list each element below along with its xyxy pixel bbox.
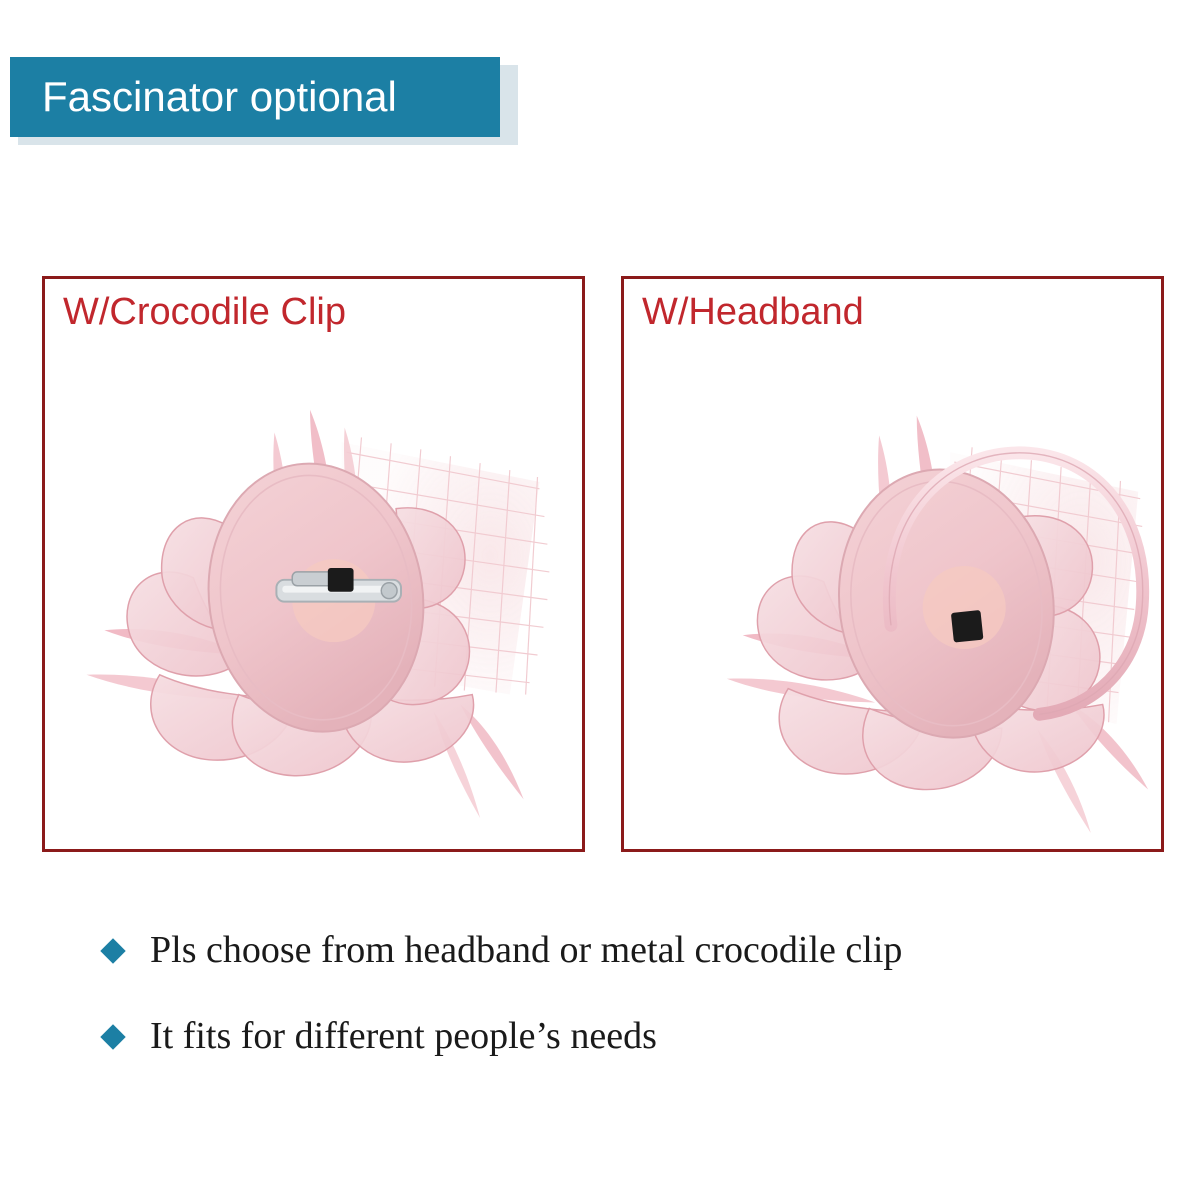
option-panels: W/Crocodile Clip: [42, 276, 1164, 852]
header-banner: Fascinator optional: [10, 57, 510, 143]
diamond-bullet-icon: [100, 938, 125, 963]
fascinator-crocodile-clip-image: [45, 279, 582, 849]
option-label-crocodile-clip: W/Crocodile Clip: [63, 291, 346, 334]
bullet-text: Pls choose from headband or metal crocod…: [150, 928, 902, 974]
list-item: It fits for different people’s needs: [104, 1014, 1164, 1060]
feature-bullet-list: Pls choose from headband or metal crocod…: [104, 928, 1164, 1099]
bullet-text: It fits for different people’s needs: [150, 1014, 657, 1060]
list-item: Pls choose from headband or metal crocod…: [104, 928, 1164, 974]
option-panel-crocodile-clip[interactable]: W/Crocodile Clip: [42, 276, 585, 852]
option-panel-headband[interactable]: W/Headband: [621, 276, 1164, 852]
option-label-headband: W/Headband: [642, 291, 864, 334]
diamond-bullet-icon: [100, 1024, 125, 1049]
fascinator-headband-image: [624, 279, 1161, 849]
banner-block: Fascinator optional: [10, 57, 500, 137]
page-title: Fascinator optional: [10, 73, 397, 121]
